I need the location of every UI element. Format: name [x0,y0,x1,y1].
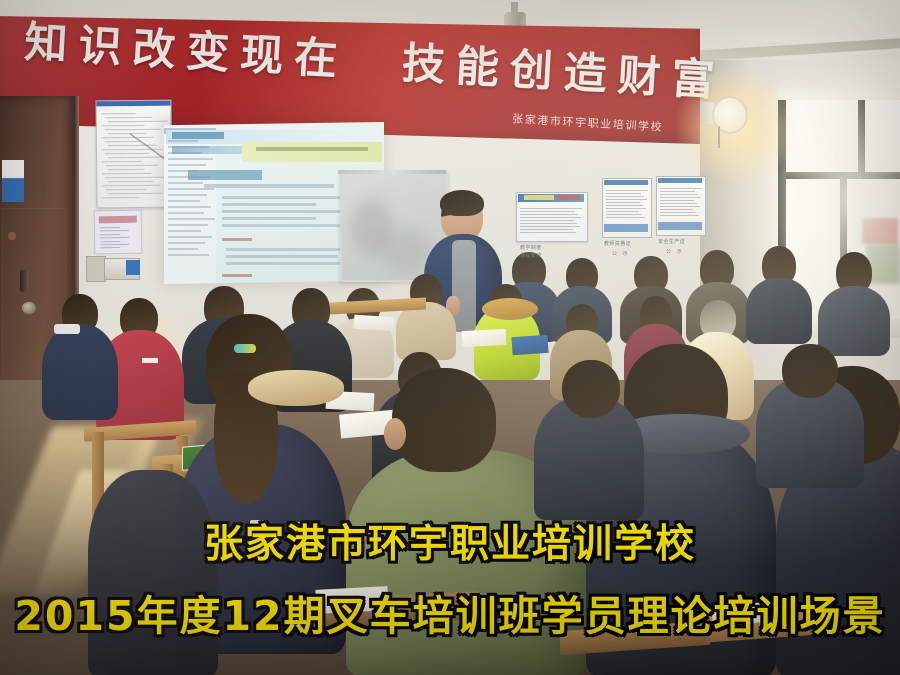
projected-text-line [168,140,198,142]
projected-text-line [222,274,252,277]
poster-header-accent [556,195,580,200]
certificate-footer [604,224,648,232]
projected-text-line [168,254,209,256]
poster-header-bar [96,101,170,107]
text-line [520,217,581,218]
projected-text-line [222,238,252,241]
projected-text-line [168,236,212,238]
text-line [606,199,647,200]
text-line [520,223,577,224]
projected-text-line [222,210,342,213]
projected-text-line [168,212,204,214]
poster-header-text [524,195,554,200]
projected-site-title [172,132,224,139]
projected-text-line [168,230,201,232]
text-line [100,237,129,239]
text-line [520,229,573,230]
text-line [100,227,120,228]
projected-text-line [168,224,208,226]
text-line [520,214,578,215]
text-line [520,220,574,221]
text-line [660,206,700,207]
projected-doc-title [188,170,262,180]
student-ear [384,418,406,450]
projected-text-line [222,224,342,227]
text-line [100,230,129,232]
poster-caption: 教学制度 [520,244,542,251]
text-line [660,209,693,210]
text-line [606,196,644,197]
door-lock-icon[interactable] [22,302,36,314]
certificate-footer [658,222,702,230]
text-line [100,244,129,246]
caption-line-course: 2015年度12期叉车培训班学员理论培训场景 [0,590,900,642]
projected-text-line [168,206,211,208]
poster-caption: 公 示 [666,248,682,255]
door-dent [8,232,16,240]
text-line [102,125,145,126]
text-line [520,226,580,227]
projected-highlight-bar [242,142,382,162]
caption-overlay: 张家港市环宇职业培训学校 2015年度12期叉车培训班学员理论培训场景 [0,522,900,642]
door-sticker [2,160,24,202]
projected-text-line [168,194,207,196]
text-line [100,234,120,235]
text-line [606,190,648,191]
projected-text-line [222,203,316,206]
classroom-photo: 知识改变现在 技能创造财富 张家港市环宇职业培训学校 [0,0,900,675]
text-line [660,197,701,198]
student-body [42,324,118,420]
text-line [660,215,699,216]
whiteboard-smudge [382,228,430,272]
student-body [746,278,812,344]
student-body [818,286,890,356]
student-hair [562,360,620,418]
lime-hood-fur [482,298,538,320]
text-line [520,232,576,233]
instructor-inner-sweater [452,240,476,332]
text-line [100,241,120,242]
text-line [108,121,168,123]
wall-fan-icon [700,96,746,134]
student-hair [392,368,496,472]
whiteboard-rail [338,170,446,174]
projected-text-line [168,170,199,172]
text-line [606,205,643,206]
hair-clip-icon [234,344,256,353]
door-handle[interactable] [20,270,29,292]
projected-text-line [168,152,202,154]
text-line [105,117,152,118]
student-hair [782,344,838,398]
text-line [660,188,702,189]
text-line [606,193,641,194]
blue-folder [511,335,548,355]
jacket-label-tag [142,358,158,363]
text-line [606,214,642,215]
projected-text-line [222,217,316,220]
text-line [606,211,639,212]
projected-text-line [222,196,342,199]
collar-white [54,324,80,334]
certificate-header [604,180,648,185]
text-line [606,208,646,209]
fan-wire [718,126,720,148]
poster-caption: 安全生产证 [658,238,685,245]
text-line [660,203,697,204]
text-line [520,208,582,209]
jacket-fur-trim [248,370,344,406]
text-line [606,217,645,218]
projected-text-line [168,248,198,250]
projected-text-line [168,176,210,178]
text-line [660,212,696,213]
projected-text-line [168,146,209,148]
text-line [102,113,136,114]
text-line [660,200,694,201]
projected-text-line [168,164,206,166]
junction-box [86,256,106,282]
poster-caption: 课程安排 [520,252,542,259]
poster-caption: 公 示 [612,250,628,257]
instructor-hair [440,190,484,216]
handout-paper [354,315,395,332]
text-line [100,247,120,248]
handout-paper [462,329,507,347]
projected-text-line [168,182,203,184]
projected-doc-subtitle [204,184,334,188]
projected-text-line [168,242,205,244]
text-line [606,202,640,203]
projected-text-line [168,158,213,160]
projected-highlight-text [256,147,368,151]
text-line [660,194,698,195]
text-line [520,211,575,212]
student-body [396,302,456,360]
projected-text-line [168,188,214,190]
projected-text-line [226,255,338,258]
projected-text-line [168,200,200,202]
projected-text-line [168,218,215,220]
poster-caption: 教师资格证 [604,240,631,247]
caption-line-school: 张家港市环宇职业培训学校 [0,522,900,568]
text-line [660,191,695,192]
certificate-header [658,178,702,183]
